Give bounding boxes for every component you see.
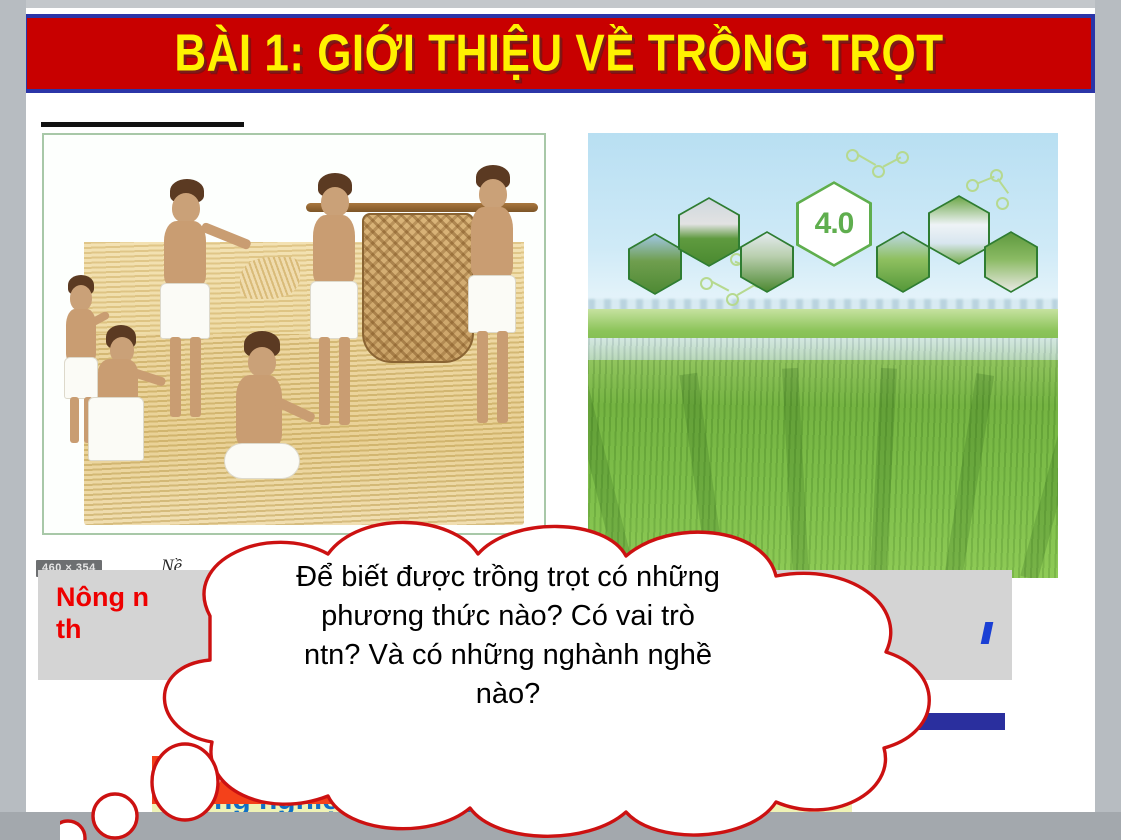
wheat-field-front (84, 334, 524, 525)
hex-greenhouse-sensors (628, 233, 682, 295)
hex-drone (876, 231, 930, 293)
bubble-line-4: nào? (178, 675, 838, 714)
frame-top (0, 0, 1121, 8)
hex-4-0-label: 4.0 (796, 181, 872, 267)
hex-harvest-robot (984, 231, 1038, 293)
hex-greenhouse-rows (740, 231, 794, 293)
hex-cattle (678, 197, 740, 267)
blue-text-fragment (981, 622, 994, 644)
ancient-harvest-illustration (42, 133, 546, 535)
bubble-line-3: ntn? Và có những nghành nghề (178, 636, 838, 675)
divider-rule (41, 122, 244, 127)
wheat-sheaf (240, 257, 300, 299)
bubble-line-2: phương thức nào? Có vai trò (178, 597, 838, 636)
woven-basket (362, 213, 474, 363)
bubble-line-1: Để biết được trồng trọt có những (178, 558, 838, 597)
frame-left (0, 0, 26, 840)
thought-bubble-text: Để biết được trồng trọt có những phương … (178, 558, 838, 713)
agriculture-4-0-banner: 4.0 (588, 133, 1058, 371)
frame-right (1095, 0, 1121, 840)
hex-smart-agri-app (928, 195, 990, 265)
page-title: BÀI 1: GIỚI THIỆU VỀ TRỒNG TRỌT (174, 24, 943, 83)
hexagon-row: 4.0 (628, 189, 1024, 309)
title-banner: BÀI 1: GIỚI THIỆU VỀ TRỒNG TRỌT (26, 14, 1095, 93)
slide-stage: BÀI 1: GIỚI THIỆU VỀ TRỒNG TRỌT (0, 0, 1121, 840)
thought-bubble: Để biết được trồng trọt có những phương … (60, 520, 980, 820)
